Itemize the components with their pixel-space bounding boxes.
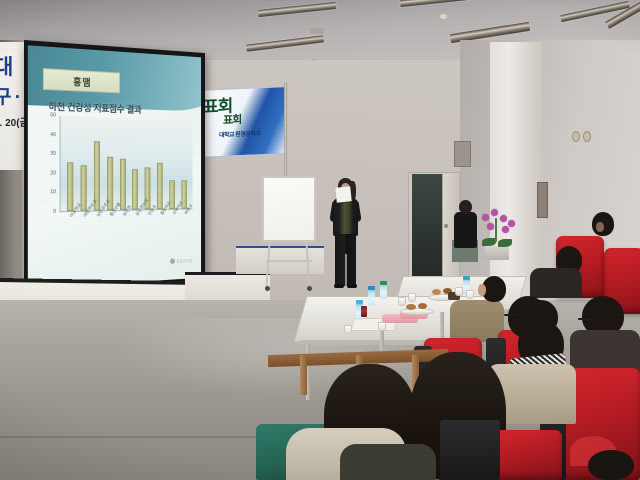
water-bottle: [380, 283, 387, 299]
banner-right: 표회 표회 대학교 환경공학과: [196, 86, 288, 158]
presenter: [326, 178, 366, 294]
whiteboard-stand: [264, 242, 314, 290]
chart-y-tick: 0: [53, 210, 56, 215]
food-item: [406, 304, 416, 310]
orchid-leaf: [482, 238, 496, 246]
chair-rail-post: [300, 355, 307, 395]
banner-left-line2: 구 ·: [0, 82, 20, 109]
presenter-leg-gap: [345, 254, 347, 286]
ceiling-light-icon: [400, 0, 478, 7]
chart-y-tick: 30: [50, 152, 56, 157]
slide-section-tab: 홍맴: [43, 68, 120, 93]
chart-y-tick: 20: [50, 171, 56, 176]
paper-cup: [378, 322, 386, 331]
wall-speaker: [454, 141, 471, 167]
seated-man-near-door: [452, 200, 478, 262]
soda-can: [361, 306, 367, 317]
open-doorway: [412, 174, 442, 280]
man-head: [459, 200, 472, 214]
presenter-torso: [333, 198, 358, 236]
floor-seam: [0, 436, 300, 438]
orchid-flower: [491, 209, 498, 216]
audience-face: [478, 284, 486, 296]
chart-bar: [132, 170, 138, 210]
paper-cup: [455, 287, 463, 296]
food-item: [432, 289, 441, 295]
slide-logo: 환경연구원: [170, 257, 194, 265]
water-bottle: [368, 288, 375, 306]
bottle-cap: [368, 286, 375, 290]
audience-shoulders: [530, 268, 582, 298]
bottle-cap: [356, 300, 363, 304]
presenter-papers: [335, 186, 351, 202]
audience-shoulders: [340, 444, 436, 480]
paper-cup: [398, 297, 406, 306]
slide-logo-mark: [170, 258, 175, 264]
chart-bar: [120, 158, 126, 209]
screen-surface: 홍맴 하천 건강성 지표점수 결과 01020304050 어상천교대방하수교남…: [28, 45, 201, 288]
audience-shoulders: [450, 300, 504, 342]
eyeglasses: [578, 318, 592, 320]
wall-plate: [537, 182, 548, 218]
stand-crossbar: [266, 260, 312, 262]
chart-bars: [61, 116, 193, 211]
stand-leg: [265, 242, 270, 288]
man-torso: [454, 212, 477, 248]
presentation-slide: 홍맴 하천 건강성 지표점수 결과 01020304050 어상천교대방하수교남…: [28, 45, 201, 288]
paper-cup: [408, 293, 416, 302]
caster-wheel-icon: [265, 286, 270, 291]
orchid-flower: [502, 226, 509, 233]
seat-back-panel: [440, 420, 500, 480]
paper-cup: [344, 325, 352, 334]
orchid-flower: [487, 223, 494, 230]
stand-leg: [305, 242, 310, 288]
auditorium-seat[interactable]: [492, 430, 562, 480]
orchid-stem: [495, 218, 497, 242]
slide-logo-text: 환경연구원: [177, 258, 193, 264]
paper-cup: [466, 290, 474, 299]
food-item: [418, 303, 427, 309]
bottle-cap: [463, 276, 470, 280]
chart-bar: [157, 162, 163, 209]
photo-scene: 대 구 · 1. 20(금) 1 표회 표회 대학교 환경공학과 홍맴 하천 건…: [0, 0, 640, 480]
ceiling-light-icon: [258, 2, 336, 17]
audience-head: [588, 450, 634, 480]
banner-right-line2: 표회: [223, 111, 241, 128]
banner-right-line3: 대학교 환경공학과: [219, 128, 260, 139]
orchid-plant: [478, 208, 516, 260]
audience-face: [596, 222, 604, 232]
chart-plot-area: [60, 116, 193, 212]
chart-y-tick: 40: [50, 132, 56, 138]
ceiling-smoke-detector: [440, 14, 447, 19]
presenter-shoe-right: [347, 284, 357, 288]
projection-screen: 홍맴 하천 건강성 지표점수 결과 01020304050 어상천교대방하수교남…: [24, 40, 205, 305]
chart-bar: [67, 162, 73, 211]
chart-y-tick: 50: [50, 113, 56, 119]
orchid-flower: [482, 214, 489, 221]
caster-wheel-icon: [307, 286, 312, 291]
chart-y-axis: 01020304050: [41, 116, 58, 213]
door-knob-icon[interactable]: [444, 224, 448, 228]
bottle-cap: [380, 281, 387, 285]
food-plate: [400, 308, 434, 315]
bar-chart: 01020304050 어상천교대방하수교남한강수교황전수물남한천금강정수교단양…: [41, 116, 192, 235]
banner-left-line1: 대: [0, 51, 12, 81]
ceiling-light-icon: [246, 35, 324, 51]
presenter-shoe-left: [334, 284, 344, 288]
wall-speaker-dots: [572, 131, 592, 142]
chart-x-labels: 어상천교대방하수교남한강수교황전수물남한천금강정수교단양교벌판대교신매대교하류교: [60, 213, 193, 252]
orchid-leaf: [498, 239, 512, 247]
eyeglasses: [504, 314, 516, 316]
slide-section-tab-label: 홍맴: [73, 73, 91, 88]
ceiling-vent: [310, 28, 324, 34]
orchid-flower: [500, 215, 507, 222]
whiteboard: [262, 176, 316, 242]
chart-y-tick: 10: [50, 190, 56, 195]
orchid-flower: [508, 220, 515, 227]
orchid-pot: [485, 246, 509, 260]
